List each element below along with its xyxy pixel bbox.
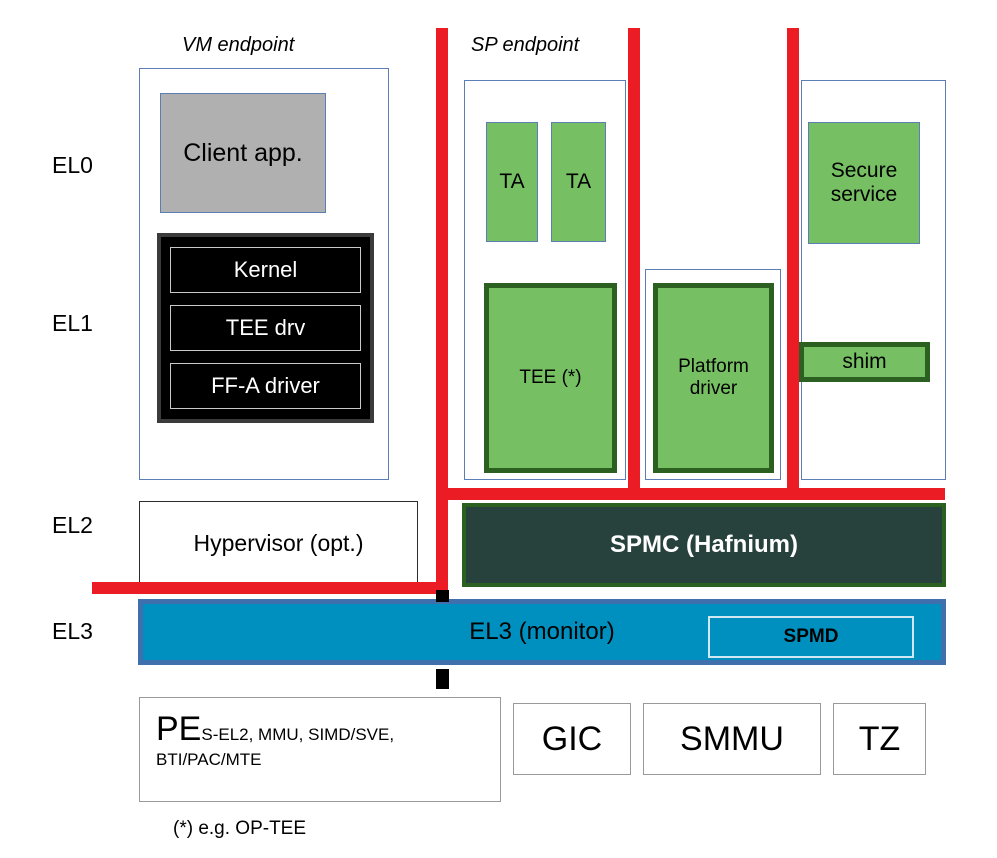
- client-app-box[interactable]: Client app.: [160, 93, 326, 213]
- el-label-el1: EL1: [52, 310, 93, 337]
- tee-box[interactable]: TEE (*): [484, 283, 617, 473]
- vm-endpoint-title: VM endpoint: [182, 34, 294, 57]
- el-label-el2: EL2: [52, 512, 93, 539]
- gic-box[interactable]: GIC: [513, 703, 631, 775]
- spmd-box[interactable]: SPMD: [708, 616, 914, 658]
- spmd-label: SPMD: [784, 626, 839, 648]
- secure-service-label-line1: Secure: [831, 159, 898, 183]
- pe-detail-line1: S-EL2, MMU, SIMD/SVE,: [201, 725, 394, 744]
- tz-box[interactable]: TZ: [833, 703, 926, 775]
- trusted-app-label-1: TA: [499, 170, 524, 194]
- shim-label: shim: [842, 350, 886, 374]
- red-divider-horizontal-upper: [436, 488, 945, 500]
- connector-square-el3-hw: [436, 669, 449, 689]
- hypervisor-box[interactable]: Hypervisor (opt.): [139, 501, 418, 585]
- spmc-label: SPMC (Hafnium): [610, 531, 798, 559]
- el-label-el3: EL3: [52, 618, 93, 645]
- tee-driver-label: TEE drv: [226, 315, 305, 341]
- connector-square-el2-el3: [436, 590, 449, 602]
- spmc-box[interactable]: SPMC (Hafnium): [462, 503, 946, 587]
- client-app-label: Client app.: [183, 139, 303, 168]
- smmu-box[interactable]: SMMU: [643, 703, 821, 775]
- pe-box[interactable]: PES-EL2, MMU, SIMD/SVE, BTI/PAC/MTE: [139, 697, 501, 802]
- tee-driver-box[interactable]: TEE drv: [170, 305, 361, 351]
- platform-driver-label-line1: Platform: [678, 356, 749, 378]
- smmu-label: SMMU: [680, 720, 784, 759]
- pe-label: PE: [156, 710, 201, 748]
- el-label-el0: EL0: [52, 152, 93, 179]
- shim-box[interactable]: shim: [799, 342, 930, 382]
- red-divider-vertical-3: [787, 28, 799, 500]
- ffa-architecture-diagram: EL0 EL1 EL2 EL3 VM endpoint SP endpoint …: [0, 0, 997, 858]
- kernel-box[interactable]: Kernel: [170, 247, 361, 293]
- el3-monitor-bar[interactable]: EL3 (monitor) SPMD: [138, 599, 946, 665]
- footnote-text: (*) e.g. OP-TEE: [173, 818, 306, 840]
- red-divider-vertical-2: [628, 28, 640, 500]
- sp-endpoint-title: SP endpoint: [471, 34, 579, 57]
- red-divider-vertical-1: [436, 28, 448, 594]
- secure-service-label-line2: service: [831, 183, 898, 207]
- el3-monitor-label: EL3 (monitor): [469, 618, 614, 646]
- trusted-app-label-2: TA: [566, 170, 591, 194]
- trusted-app-box-2[interactable]: TA: [551, 122, 606, 242]
- platform-driver-label-line2: driver: [678, 378, 749, 400]
- red-divider-horizontal-lower: [92, 582, 448, 594]
- kernel-stack-container: Kernel TEE drv FF-A driver: [157, 233, 374, 423]
- secure-service-box[interactable]: Secure service: [808, 122, 920, 244]
- tz-label: TZ: [859, 720, 901, 759]
- ffa-driver-box[interactable]: FF-A driver: [170, 363, 361, 409]
- pe-detail-line2: BTI/PAC/MTE: [156, 748, 484, 773]
- hypervisor-label: Hypervisor (opt.): [194, 530, 364, 557]
- platform-driver-box[interactable]: Platform driver: [653, 283, 774, 473]
- gic-label: GIC: [542, 720, 602, 759]
- trusted-app-box-1[interactable]: TA: [486, 122, 538, 242]
- ffa-driver-label: FF-A driver: [211, 373, 320, 399]
- kernel-label: Kernel: [234, 257, 298, 283]
- tee-label: TEE (*): [519, 367, 581, 389]
